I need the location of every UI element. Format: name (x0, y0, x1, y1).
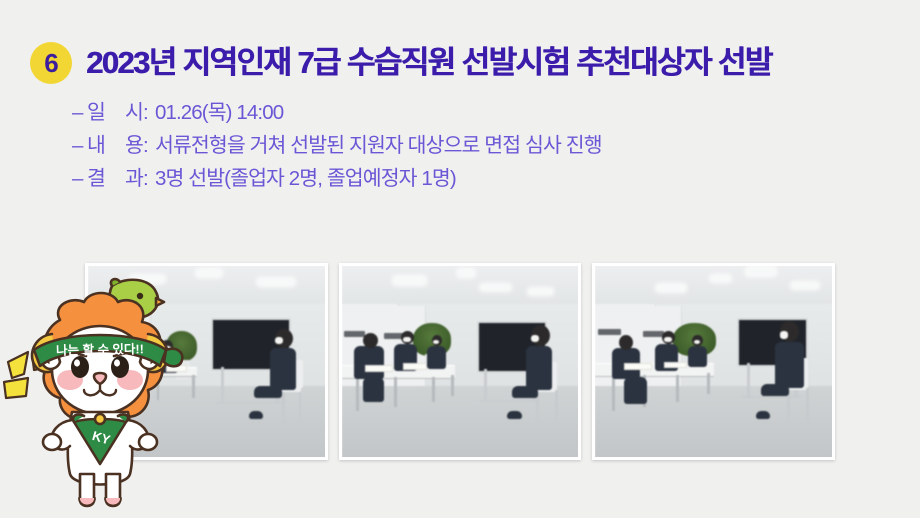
photo-content (595, 266, 832, 457)
bullet-label-char-1: 내 (87, 128, 105, 158)
monitor-stand (747, 363, 751, 397)
ceiling-light (394, 277, 425, 284)
photo-content (342, 266, 579, 457)
face-mask (664, 337, 672, 343)
photo-interview-panel-right (592, 263, 835, 460)
chair-leg (806, 388, 809, 420)
table-leg (612, 375, 615, 411)
panel-member-legs (624, 377, 648, 404)
candidate-body (526, 346, 552, 390)
ceiling-light (747, 268, 775, 275)
section-number-label: 6 (44, 50, 57, 76)
candidate-chair-back (296, 360, 303, 389)
ceiling-light (529, 289, 553, 294)
photo-interview-panel-left (339, 263, 582, 460)
monitor-stand (216, 402, 285, 405)
chair-leg (299, 392, 302, 423)
bullet-colon: : (143, 134, 155, 158)
bullet-label-char-2: 과 (125, 161, 143, 191)
bullet-dash: – (72, 101, 87, 125)
candidate-body (775, 342, 803, 388)
chair-leg (555, 390, 558, 421)
bullet-label: 일 시 (87, 95, 143, 125)
ceiling-light (792, 283, 818, 288)
bullet-label: 내 용 (87, 128, 143, 158)
table-leg (451, 375, 454, 396)
panel-member (688, 346, 707, 367)
ceiling-light (657, 285, 685, 291)
wall-stripe (344, 331, 365, 337)
bullet-dash: – (72, 167, 87, 191)
candidate-legs (512, 386, 538, 397)
document-paper (624, 363, 652, 370)
candidate-body (270, 348, 296, 390)
ceiling-light (481, 285, 509, 290)
monitor-stand (742, 396, 801, 398)
panel-member-legs (363, 377, 384, 402)
bullet-value: 3명 선발(졸업자 2명, 졸업예정자 1명) (155, 161, 872, 191)
bullet-label-char-1: 결 (87, 161, 105, 191)
ceiling-light (458, 270, 475, 276)
monitor-stand (484, 369, 488, 401)
panel-member (427, 346, 446, 369)
document-paper (365, 365, 393, 372)
table-leg (676, 375, 679, 402)
bullet-label-char-2: 용 (125, 128, 143, 158)
monitor-stand (221, 367, 225, 403)
bullet-colon: : (143, 101, 155, 125)
document-paper (403, 363, 426, 369)
chair-leg (282, 392, 285, 424)
bullet-value: 01.26(목) 14:00 (155, 95, 872, 125)
bullet-row-content: – 내 용 : 서류전형을 거쳐 선발된 지원자 대상으로 면접 심사 진행 (72, 128, 872, 161)
bullet-label: 결 과 (87, 161, 143, 191)
candidate-shoe (249, 411, 263, 419)
candidate-shoe (507, 411, 521, 419)
section-number-badge: 6 (30, 42, 72, 84)
table-leg (432, 377, 435, 402)
ceiling-light (711, 276, 730, 282)
panel-member (354, 346, 385, 378)
face-mask (275, 337, 283, 345)
candidate-legs (254, 386, 282, 397)
bullet-label-char-1: 일 (87, 95, 105, 125)
bullet-row-schedule: – 일 시 : 01.26(목) 14:00 (72, 95, 872, 128)
wall-stripe (598, 329, 622, 335)
candidate-legs (761, 384, 789, 395)
table-leg (394, 377, 397, 408)
table-leg (707, 373, 710, 394)
bullet-dash: – (72, 134, 87, 158)
face-mask (531, 335, 539, 343)
table-leg (356, 377, 359, 411)
face-mask (780, 331, 788, 339)
face-mask (403, 337, 411, 343)
page-title: 2023년 지역인재 7급 수습직원 선발시험 추천대상자 선발 (86, 46, 772, 80)
bullet-row-result: – 결 과 : 3명 선발(졸업자 2명, 졸업예정자 1명) (72, 161, 872, 194)
bullet-value: 서류전형을 거쳐 선발된 지원자 대상으로 면접 심사 진행 (155, 128, 872, 158)
ceiling-light (258, 279, 294, 285)
mascot-character: 나는 할 수 있다!! KY (0, 272, 200, 518)
bullet-label-char-2: 시 (125, 95, 143, 125)
slide-header: 6 2023년 지역인재 7급 수습직원 선발시험 추천대상자 선발 (0, 34, 920, 92)
candidate-shoe (756, 411, 770, 419)
bullet-list: – 일 시 : 01.26(목) 14:00 – 내 용 : 서류전형을 거쳐 … (72, 95, 872, 194)
monitor-stand (479, 400, 541, 402)
document-paper (664, 362, 687, 368)
bullet-colon: : (143, 167, 155, 191)
ceiling-light (197, 270, 221, 276)
wall-stripe (643, 331, 664, 337)
